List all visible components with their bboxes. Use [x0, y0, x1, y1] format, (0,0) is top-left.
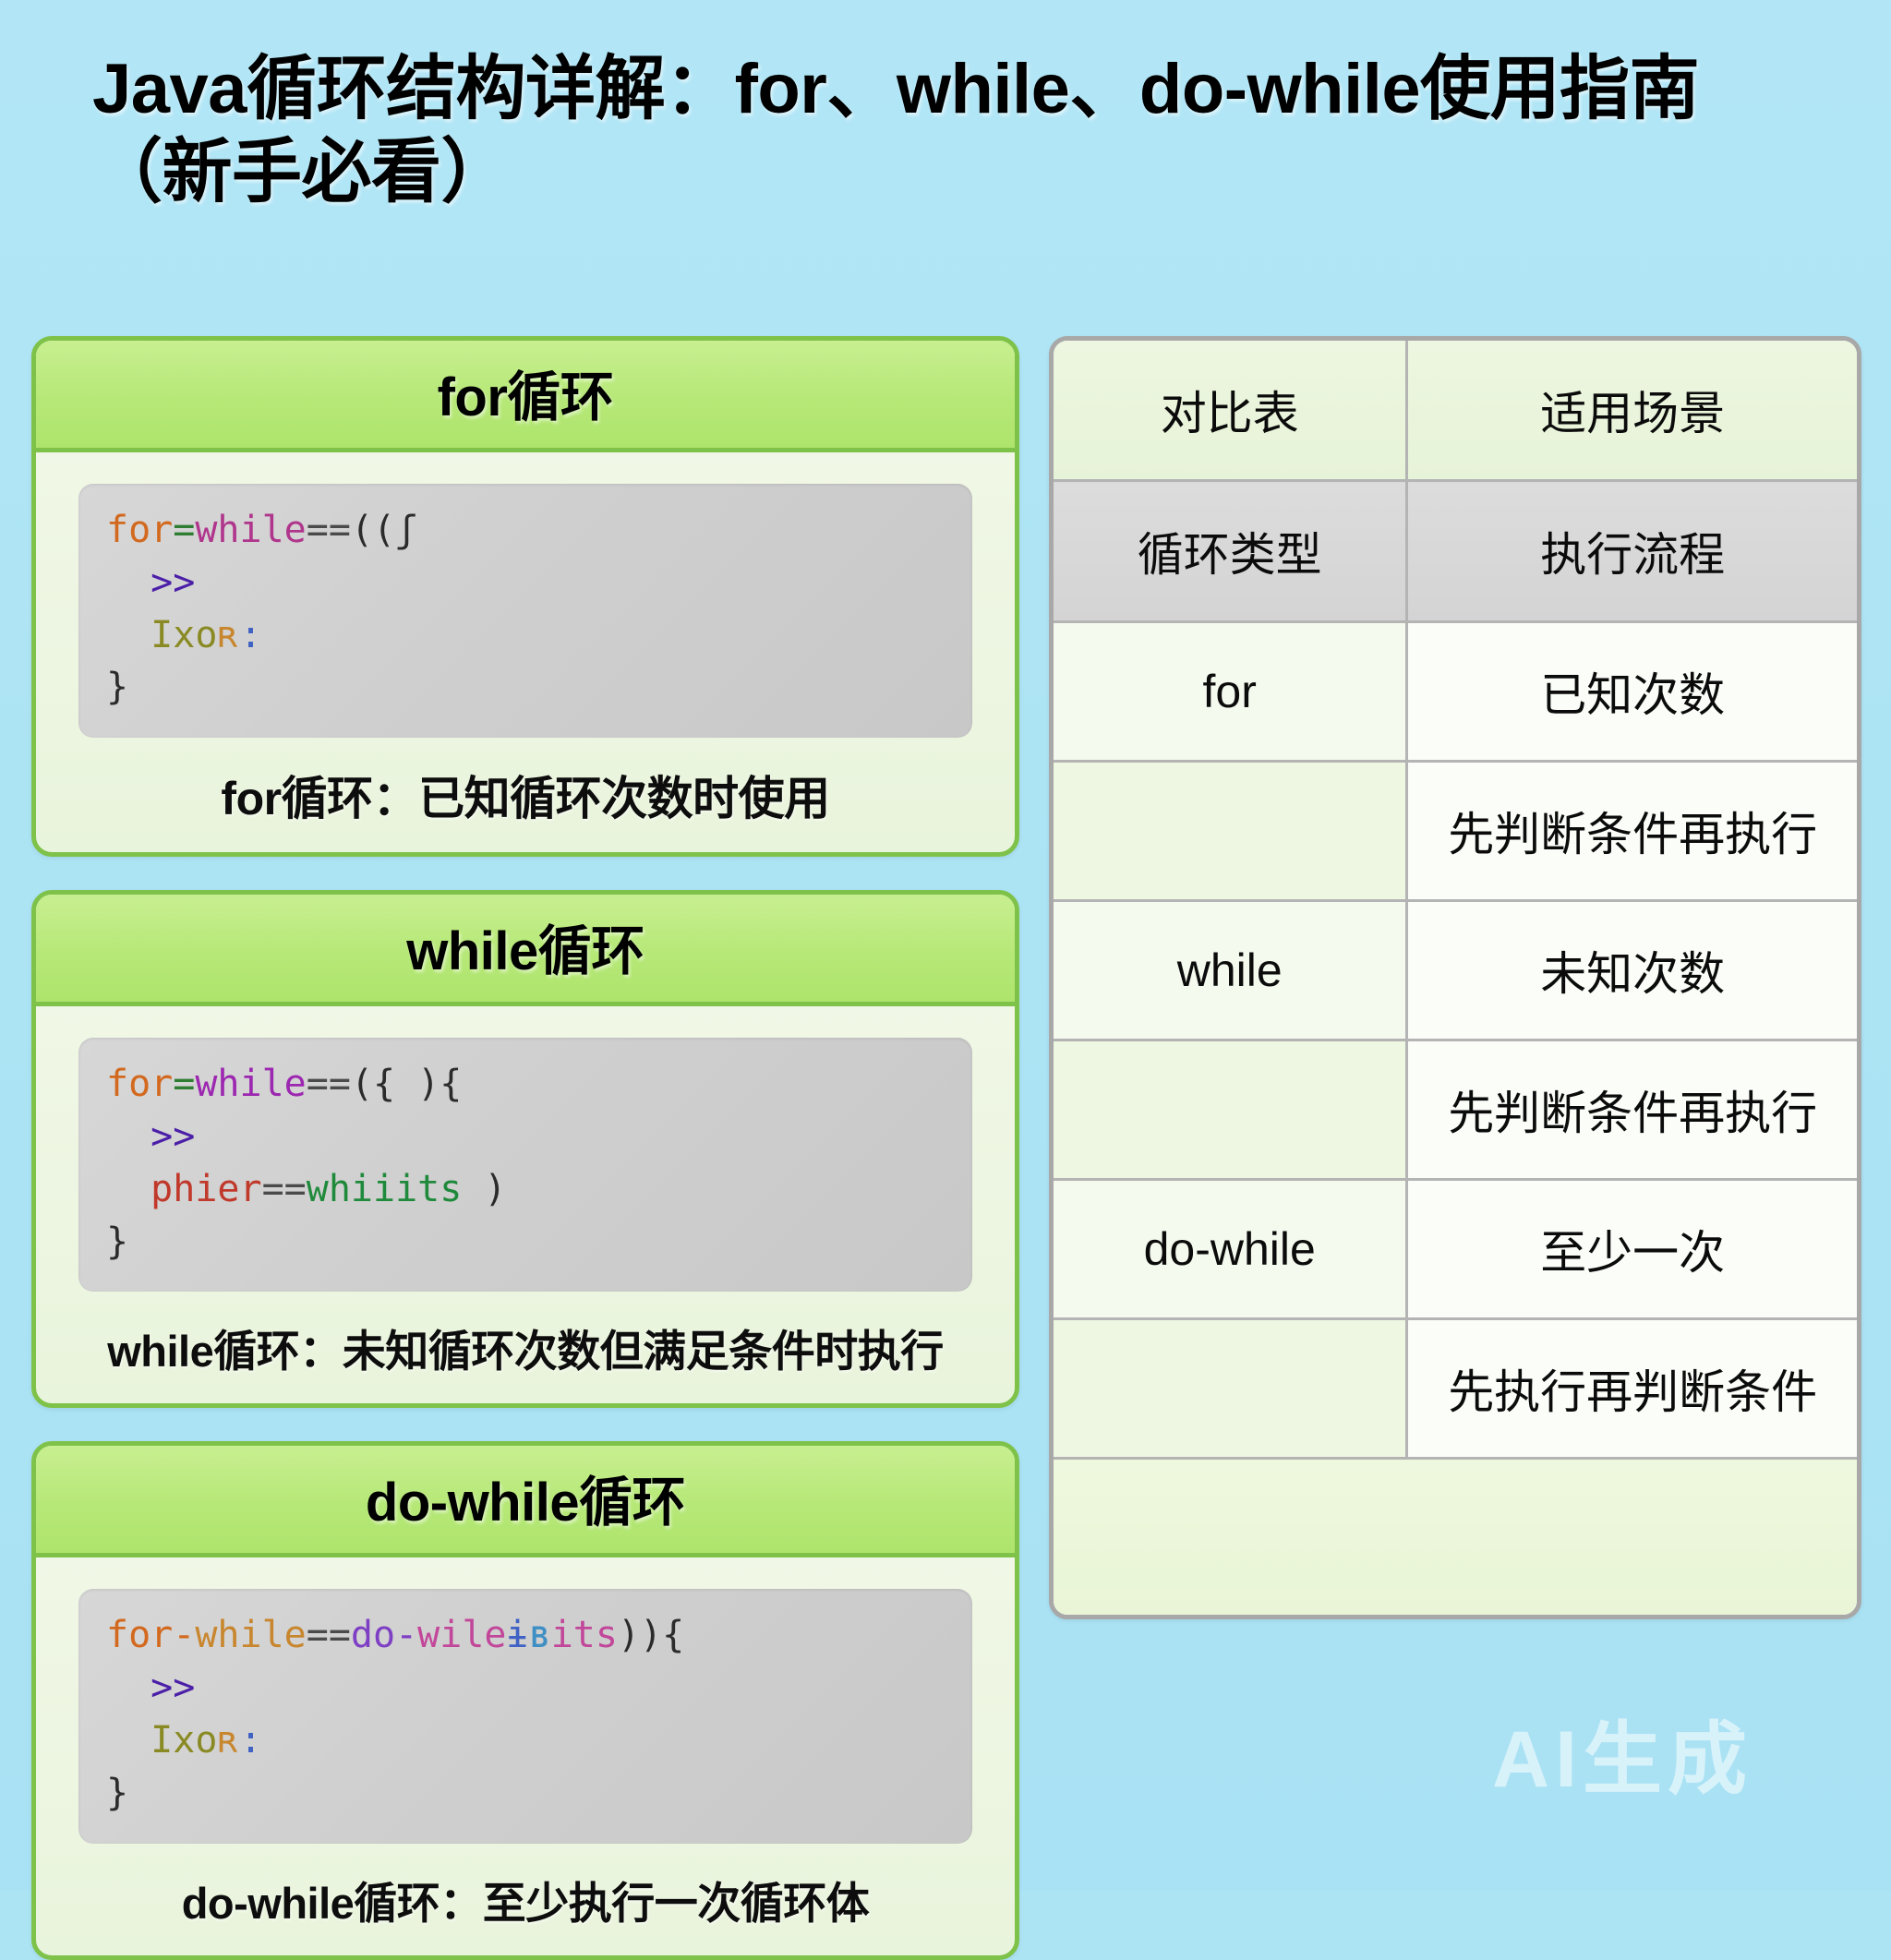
- comparison-table: 对比表适用场景循环类型执行流程for已知次数先判断条件再执行while未知次数先…: [1054, 341, 1857, 1615]
- code-token: ʙ: [529, 1614, 551, 1656]
- table-cell-label: for: [1054, 622, 1407, 762]
- poster-root: Java循环结构详解：for、while、do-while使用指南 （新手必看）…: [0, 0, 1891, 1891]
- code-token: ʀ: [217, 1719, 239, 1762]
- code-token: phier: [151, 1168, 261, 1210]
- code-token: ==: [307, 1614, 351, 1656]
- code-token: }: [106, 1772, 128, 1814]
- code-line: for-while==do-wileɨʙits)){: [106, 1609, 945, 1662]
- table-row: 循环类型执行流程: [1054, 481, 1857, 622]
- table-cell-label: do-while: [1054, 1180, 1407, 1319]
- code-token: =: [173, 1063, 195, 1105]
- code-token: [106, 1666, 151, 1709]
- code-token: ==: [262, 1168, 307, 1210]
- code-line: >>: [106, 1662, 945, 1714]
- code-token: ɨ: [507, 1614, 529, 1656]
- page-title: Java循环结构详解：for、while、do-while使用指南 （新手必看）: [92, 48, 1828, 213]
- table-cell-label: [1054, 1040, 1407, 1180]
- code-token: ): [462, 1168, 506, 1210]
- code-token: :: [240, 1719, 262, 1762]
- code-token: ==: [307, 509, 351, 551]
- code-token: for: [106, 1063, 173, 1105]
- loop-card-body: for=while==({ ){ >> phier==whiiits )}whi…: [36, 1006, 1015, 1403]
- content-columns: for循环for=while==((ʃ >> Ixoʀ:}for循环：已知循环次…: [31, 336, 1869, 1960]
- code-line: }: [106, 1767, 945, 1820]
- code-token: [106, 614, 151, 656]
- loop-card-header: do-while循环: [36, 1446, 1015, 1557]
- code-line: >>: [106, 1111, 945, 1163]
- code-token: }: [106, 666, 128, 708]
- page-title-line-1: Java循环结构详解：for、while、do-while使用指南: [92, 48, 1828, 131]
- code-line: }: [106, 1216, 945, 1269]
- table-cell-label: while: [1054, 901, 1407, 1040]
- code-snippet: for-while==do-wileɨʙits)){ >> Ixoʀ:}: [78, 1589, 972, 1843]
- code-token: wile: [417, 1614, 506, 1656]
- code-line: phier==whiiits ): [106, 1163, 945, 1216]
- code-token: :: [240, 614, 262, 656]
- code-token: [106, 1719, 151, 1762]
- table-row: 先判断条件再执行: [1054, 1040, 1857, 1180]
- table-row: 先判断条件再执行: [1054, 762, 1857, 901]
- table-cell-value: 先执行再判断条件: [1407, 1319, 1857, 1459]
- code-token: )){: [618, 1614, 684, 1656]
- code-token: Ixo: [151, 614, 217, 656]
- loop-card-body: for-while==do-wileɨʙits)){ >> Ixoʀ:}do-w…: [36, 1557, 1015, 1954]
- loop-card-caption: do-while循环：至少执行一次循环体: [78, 1868, 972, 1931]
- table-cell-value: 至少一次: [1407, 1180, 1857, 1319]
- table-row: [1054, 1459, 1857, 1616]
- table-cell-value: 未知次数: [1407, 901, 1857, 1040]
- code-snippet: for=while==((ʃ >> Ixoʀ:}: [78, 484, 972, 738]
- comparison-table-column: 对比表适用场景循环类型执行流程for已知次数先判断条件再执行while未知次数先…: [1049, 336, 1861, 1619]
- code-token: }: [106, 1220, 128, 1263]
- code-token: while: [195, 1063, 306, 1105]
- code-token: >>: [151, 561, 195, 604]
- loop-card: do-while循环for-while==do-wileɨʙits)){ >> …: [31, 1441, 1019, 1959]
- code-token: its: [551, 1614, 618, 1656]
- table-cell-label: 循环类型: [1054, 481, 1407, 622]
- code-token: [106, 561, 151, 604]
- table-row: 对比表适用场景: [1054, 341, 1857, 481]
- code-token: [106, 1168, 151, 1210]
- loop-cards-column: for循环for=while==((ʃ >> Ixoʀ:}for循环：已知循环次…: [31, 336, 1019, 1960]
- code-token: =: [173, 509, 195, 551]
- loop-card-caption: while循环：未知循环次数但满足条件时执行: [78, 1316, 972, 1379]
- code-token: for-: [106, 1614, 195, 1656]
- code-token: do-: [351, 1614, 417, 1656]
- loop-card-title: for循环: [36, 354, 1015, 431]
- page-title-line-2: （新手必看）: [92, 131, 1828, 214]
- loop-card-title: do-while循环: [36, 1459, 1015, 1536]
- loop-card-title: while循环: [36, 908, 1015, 985]
- code-token: >>: [151, 1115, 195, 1158]
- table-cell-value: 先判断条件再执行: [1407, 1040, 1857, 1180]
- table-cell-value: 先判断条件再执行: [1407, 762, 1857, 901]
- loop-card: for循环for=while==((ʃ >> Ixoʀ:}for循环：已知循环次…: [31, 336, 1019, 857]
- loop-card-header: while循环: [36, 895, 1015, 1006]
- code-token: for: [106, 509, 173, 551]
- table-row: for已知次数: [1054, 622, 1857, 762]
- code-token: Ixo: [151, 1719, 217, 1762]
- code-token: [106, 1115, 151, 1158]
- code-token: whiiits: [307, 1168, 463, 1210]
- code-token: while: [195, 509, 306, 551]
- code-line: Ixoʀ:: [106, 609, 945, 662]
- code-token: ((ʃ: [351, 509, 417, 551]
- loop-card-body: for=while==((ʃ >> Ixoʀ:}for循环：已知循环次数时使用: [36, 452, 1015, 852]
- code-token: ʀ: [217, 614, 239, 656]
- code-token: ({ ){: [351, 1063, 462, 1105]
- code-line: }: [106, 661, 945, 714]
- table-cell-label: [1054, 1459, 1857, 1616]
- table-row: 先执行再判断条件: [1054, 1319, 1857, 1459]
- code-line: Ixoʀ:: [106, 1714, 945, 1767]
- table-cell-label: 对比表: [1054, 341, 1407, 481]
- code-line: >>: [106, 557, 945, 609]
- code-token: >>: [151, 1666, 195, 1709]
- table-cell-label: [1054, 762, 1407, 901]
- table-row: while未知次数: [1054, 901, 1857, 1040]
- table-cell-label: [1054, 1319, 1407, 1459]
- code-line: for=while==({ ){: [106, 1058, 945, 1111]
- loop-card: while循环for=while==({ ){ >> phier==whiiit…: [31, 890, 1019, 1408]
- loop-card-header: for循环: [36, 341, 1015, 452]
- table-cell-value: 适用场景: [1407, 341, 1857, 481]
- code-token: while: [195, 1614, 306, 1656]
- comparison-table-wrapper: 对比表适用场景循环类型执行流程for已知次数先判断条件再执行while未知次数先…: [1049, 336, 1861, 1619]
- table-row: do-while至少一次: [1054, 1180, 1857, 1319]
- code-line: for=while==((ʃ: [106, 504, 945, 557]
- loop-card-caption: for循环：已知循环次数时使用: [78, 762, 972, 828]
- code-snippet: for=while==({ ){ >> phier==whiiits )}: [78, 1038, 972, 1292]
- table-cell-value: 执行流程: [1407, 481, 1857, 622]
- table-cell-value: 已知次数: [1407, 622, 1857, 762]
- code-token: ==: [307, 1063, 351, 1105]
